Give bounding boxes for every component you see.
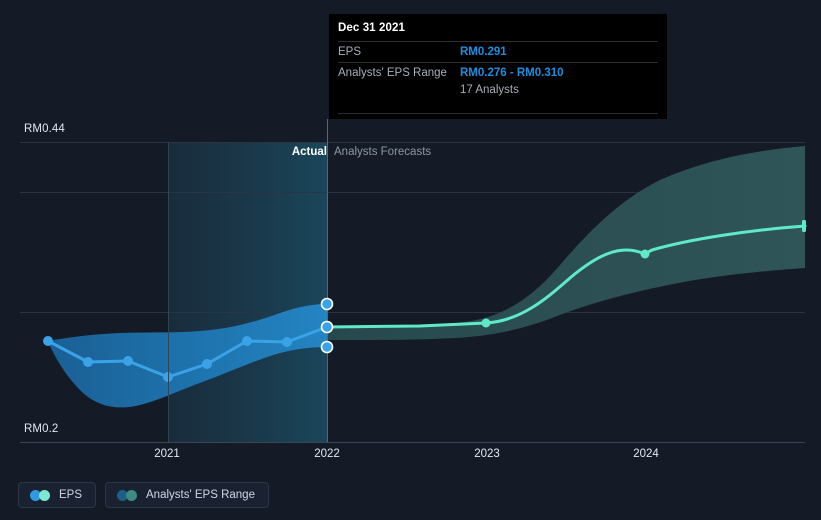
x-axis-tick-2022: 2022 — [314, 448, 340, 460]
forecast-period-label: Analysts Forecasts — [334, 146, 431, 158]
x-axis-tick-2023: 2023 — [474, 448, 500, 460]
actual-period-label: Actual — [292, 146, 327, 158]
hover-data-markers[interactable] — [322, 299, 333, 353]
tooltip-footer-divider — [338, 113, 658, 115]
tooltip-row-range: Analysts' EPS Range RM0.276 - RM0.310 17… — [338, 62, 658, 100]
x-axis-tick-2024: 2024 — [633, 448, 659, 460]
tooltip-range-key: Analysts' EPS Range — [338, 66, 460, 80]
chart-legend: EPS Analysts' EPS Range — [18, 482, 269, 508]
chart-tooltip: Dec 31 2021 EPS RM0.291 Analysts' EPS Ra… — [329, 14, 667, 119]
tooltip-range-value: RM0.276 - RM0.310 — [460, 66, 564, 80]
tooltip-row-eps: EPS RM0.291 — [338, 41, 658, 62]
legend-label-analysts-eps-range: Analysts' EPS Range — [146, 489, 255, 501]
tooltip-analyst-count: 17 Analysts — [460, 80, 564, 97]
legend-label-eps: EPS — [59, 489, 82, 501]
legend-item-eps[interactable]: EPS — [18, 482, 96, 508]
tooltip-date-title: Dec 31 2021 — [338, 22, 658, 41]
x-axis-tick-2021: 2021 — [154, 448, 180, 460]
tooltip-eps-value: RM0.291 — [460, 45, 507, 59]
actual-period-background — [168, 142, 327, 442]
two-dots-icon — [30, 490, 51, 501]
y-axis-max-label: RM0.44 — [24, 123, 65, 135]
y-axis-min-label: RM0.2 — [24, 423, 58, 435]
tooltip-eps-key: EPS — [338, 45, 460, 59]
two-dots-icon — [117, 490, 138, 501]
forecast-range-band — [327, 146, 805, 340]
legend-item-analysts-eps-range[interactable]: Analysts' EPS Range — [105, 482, 269, 508]
eps-forecast-chart: RM0.44 RM0.2 2021 2022 2023 2024 Actual … — [0, 0, 821, 520]
